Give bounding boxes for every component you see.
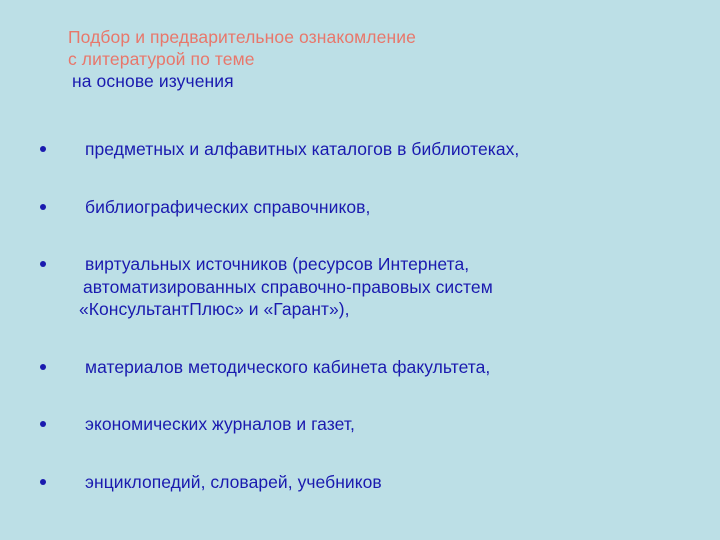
list-item-line: автоматизированных справочно-правовых си… [83, 276, 720, 299]
list-item-text: виртуальных источников (ресурсов Интерне… [85, 253, 720, 321]
list-item-line: экономических журналов и газет, [85, 414, 355, 434]
list-item: предметных и алфавитных каталогов в библ… [0, 138, 720, 161]
list-item: виртуальных источников (ресурсов Интерне… [0, 253, 720, 321]
title-line-1: Подбор и предварительное ознакомление [68, 26, 688, 48]
list-item-line: «КонсультантПлюс» и «Гарант»), [79, 298, 720, 321]
list-item-text: экономических журналов и газет, [85, 413, 720, 436]
list-item: материалов методического кабинета факуль… [0, 356, 720, 379]
list-item-line: библиографических справочников, [85, 197, 370, 217]
list-item-text: материалов методического кабинета факуль… [85, 356, 720, 379]
title-line-3: на основе изучения [68, 70, 688, 92]
bullet-dot-icon [40, 204, 46, 210]
slide-canvas: Подбор и предварительное ознакомление с … [0, 0, 720, 540]
list-item-text: предметных и алфавитных каталогов в библ… [85, 138, 720, 161]
title-line-2: с литературой по теме [68, 48, 688, 70]
list-item-text: библиографических справочников, [85, 196, 720, 219]
bullet-dot-icon [40, 146, 46, 152]
list-item: энциклопедий, словарей, учебников [0, 471, 720, 494]
bullet-dot-icon [40, 261, 46, 267]
bullet-dot-icon [40, 479, 46, 485]
list-item-text: энциклопедий, словарей, учебников [85, 471, 720, 494]
bullet-list: предметных и алфавитных каталогов в библ… [0, 138, 720, 493]
list-item: экономических журналов и газет, [0, 413, 720, 436]
slide-title: Подбор и предварительное ознакомление с … [68, 26, 688, 92]
list-item-line: виртуальных источников (ресурсов Интерне… [85, 254, 469, 274]
list-item-line: предметных и алфавитных каталогов в библ… [85, 139, 519, 159]
list-item-line: энциклопедий, словарей, учебников [85, 472, 382, 492]
bullet-dot-icon [40, 364, 46, 370]
list-item: библиографических справочников, [0, 196, 720, 219]
list-item-line: материалов методического кабинета факуль… [85, 357, 490, 377]
bullet-dot-icon [40, 421, 46, 427]
